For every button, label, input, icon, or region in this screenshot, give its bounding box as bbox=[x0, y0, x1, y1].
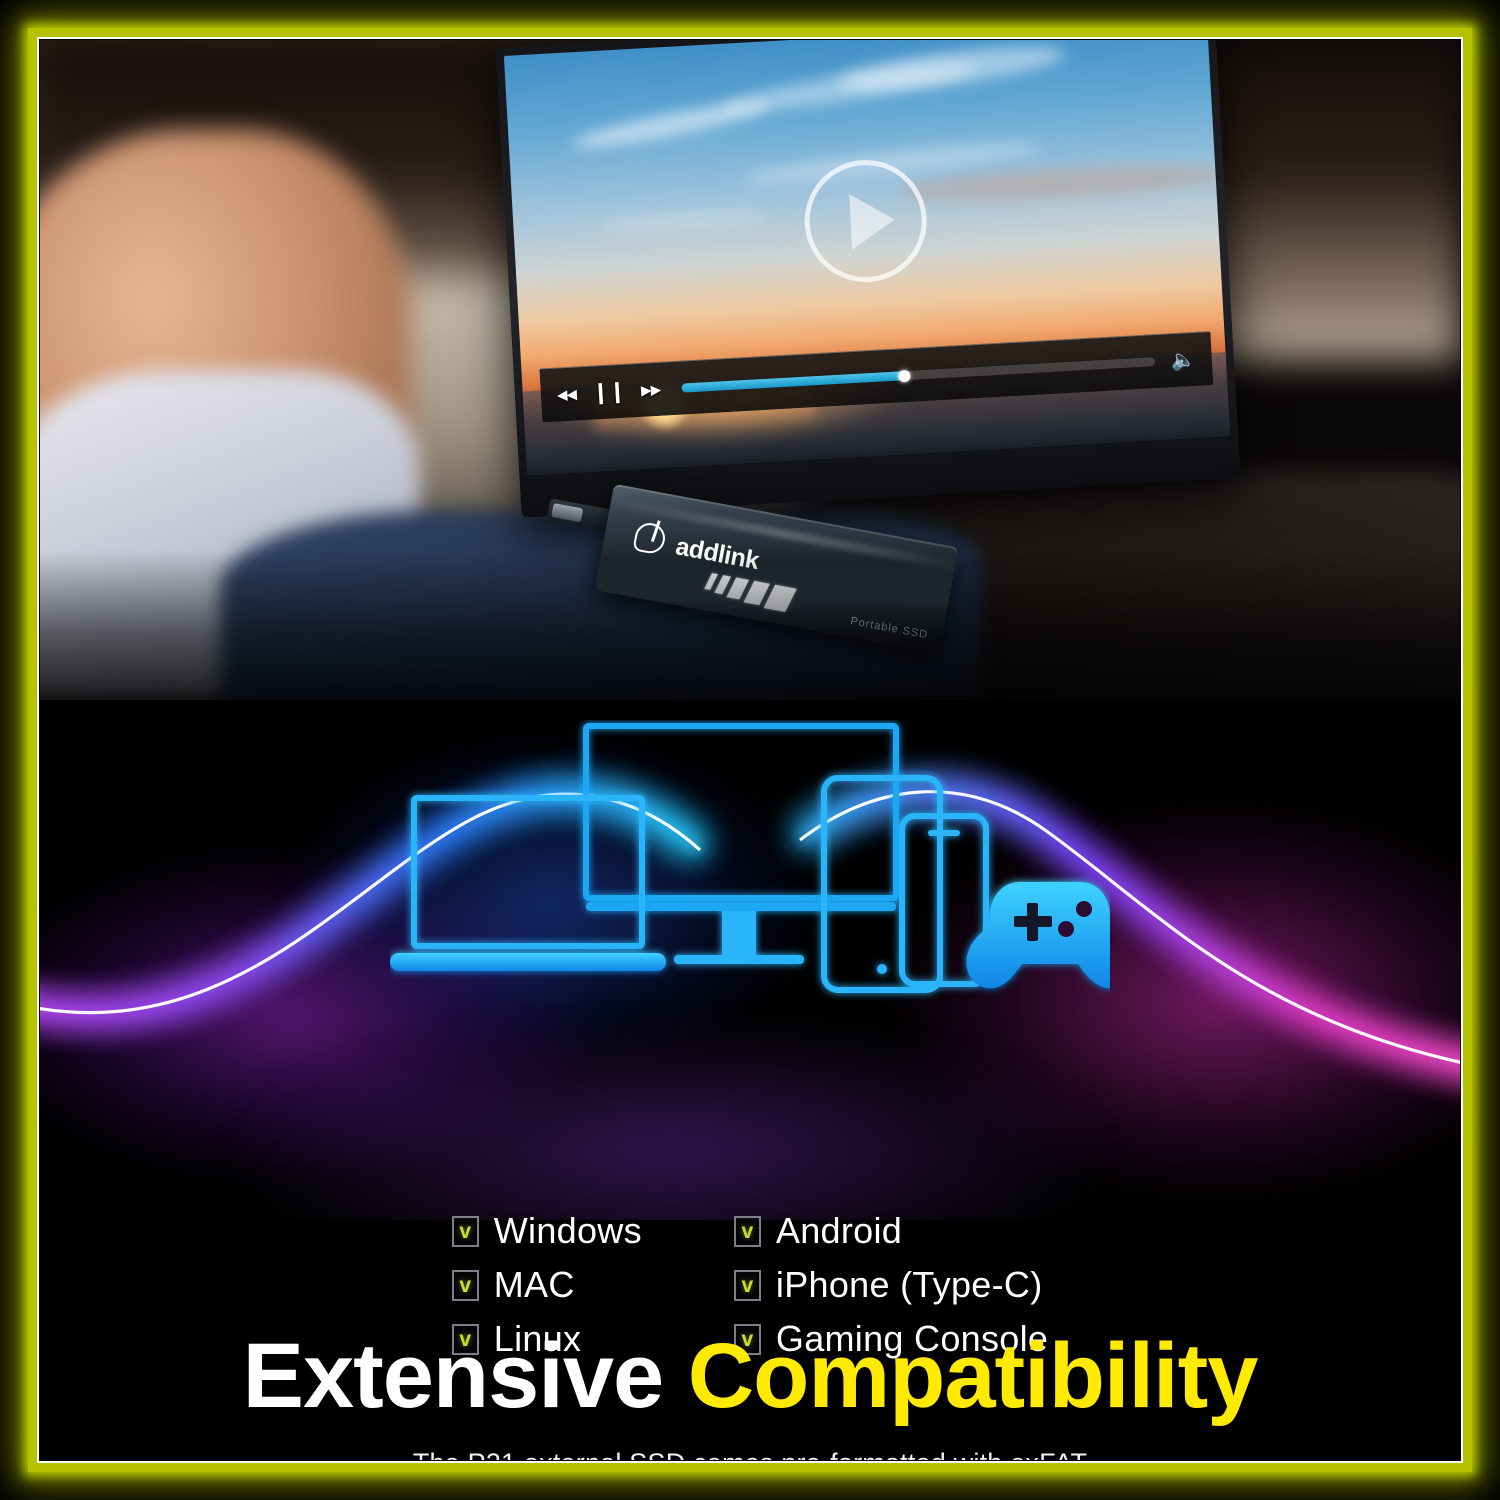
pause-icon[interactable]: ❙❙ bbox=[591, 381, 625, 404]
headline-white-part: Extensive bbox=[243, 1325, 664, 1427]
checkbox-icon: v bbox=[734, 1270, 761, 1301]
rewind-icon[interactable]: ◂◂ bbox=[556, 384, 576, 406]
lifestyle-photo: ◂◂ ❙❙ ▸▸ 🔈 bbox=[40, 40, 1460, 740]
check-glyph: v bbox=[742, 1221, 754, 1242]
compatible-devices-group bbox=[40, 700, 1460, 1220]
seek-bar[interactable] bbox=[682, 357, 1155, 392]
poster-canvas: ◂◂ ❙❙ ▸▸ 🔈 bbox=[40, 40, 1460, 1460]
list-item: v MAC bbox=[452, 1264, 642, 1306]
list-item: v Android bbox=[734, 1210, 1048, 1252]
devices-illustration bbox=[390, 720, 1110, 1010]
tablet-device: ◂◂ ❙❙ ▸▸ 🔈 bbox=[495, 40, 1240, 518]
laptop-icon bbox=[390, 798, 666, 971]
fast-forward-icon[interactable]: ▸▸ bbox=[640, 379, 660, 401]
check-glyph: v bbox=[742, 1275, 754, 1296]
checklist-label: MAC bbox=[494, 1264, 575, 1306]
check-glyph: v bbox=[459, 1275, 471, 1296]
neon-devices-section bbox=[40, 700, 1460, 1220]
cloud-shape bbox=[598, 210, 769, 233]
checklist-label: iPhone (Type-C) bbox=[776, 1264, 1043, 1306]
volume-icon[interactable]: 🔈 bbox=[1170, 347, 1196, 373]
monitor-icon bbox=[586, 726, 896, 964]
checkbox-icon: v bbox=[734, 1216, 761, 1247]
list-item: v iPhone (Type-C) bbox=[734, 1264, 1048, 1306]
tablet-screen: ◂◂ ❙❙ ▸▸ 🔈 bbox=[504, 40, 1230, 475]
checkbox-icon: v bbox=[452, 1270, 479, 1301]
headline-yellow-part: Compatibility bbox=[688, 1325, 1258, 1427]
headline-block: Extensive Compatibility The P21 external… bbox=[40, 1330, 1460, 1460]
poster-stage: ◂◂ ❙❙ ▸▸ 🔈 bbox=[0, 0, 1500, 1500]
seek-progress bbox=[682, 371, 905, 392]
play-triangle-icon bbox=[849, 191, 896, 249]
tablet-icon bbox=[824, 778, 940, 990]
page-title: Extensive Compatibility bbox=[40, 1330, 1460, 1422]
checkbox-icon: v bbox=[452, 1216, 479, 1247]
list-item: v Windows bbox=[452, 1210, 642, 1252]
checklist-label: Android bbox=[776, 1210, 902, 1252]
seek-handle[interactable] bbox=[898, 369, 911, 382]
checklist-label: Windows bbox=[494, 1210, 642, 1252]
headline-subtitle: The P21 external SSD comes pre-formatted… bbox=[40, 1448, 1460, 1460]
check-glyph: v bbox=[459, 1221, 471, 1242]
